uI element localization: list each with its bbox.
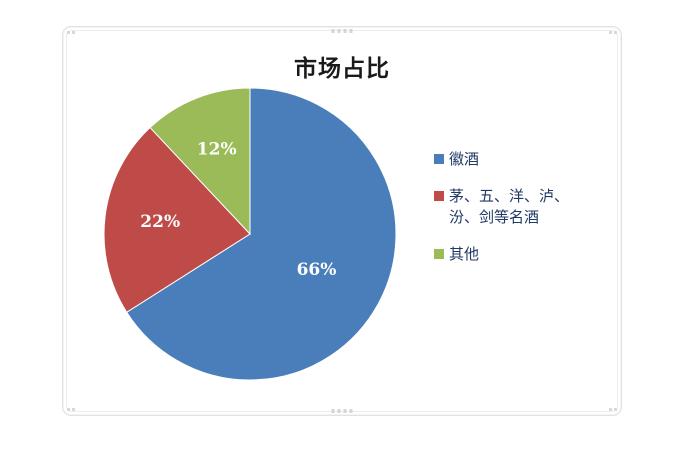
legend-item-label: 徽酒 (449, 149, 479, 170)
corner-dot (67, 408, 70, 411)
chart-title: 市场占比 (63, 49, 621, 83)
frame-tick (332, 29, 335, 33)
frame-tick (338, 409, 341, 413)
frame-tick (344, 409, 347, 413)
pie-slice-label: 12% (197, 139, 237, 159)
corner-dot (72, 408, 75, 411)
frame-tick (350, 29, 353, 33)
legend-item[interactable]: 其他 (434, 244, 609, 265)
pie-slice-group (104, 88, 396, 380)
pie-slice-label: 22% (140, 212, 180, 232)
corner-dot (614, 31, 617, 34)
frame-tick (338, 29, 341, 33)
legend-item-label: 其他 (449, 244, 479, 265)
legend-item-label: 茅、五、洋、泸、 汾、剑等名酒 (449, 186, 569, 228)
pie-slice-label: 66% (297, 260, 337, 280)
legend-color-swatch (434, 154, 444, 164)
legend-item[interactable]: 茅、五、洋、泸、 汾、剑等名酒 (434, 186, 609, 228)
legend-color-swatch (434, 249, 444, 259)
corner-dot (614, 408, 617, 411)
frame-corner-handle-top-left[interactable] (67, 31, 75, 34)
corner-dot (72, 31, 75, 34)
chart-legend[interactable]: 徽酒茅、五、洋、泸、 汾、剑等名酒其他 (434, 149, 609, 281)
frame-corner-handle-top-right[interactable] (609, 31, 617, 34)
frame-tick (350, 409, 353, 413)
frame-corner-handle-bottom-left[interactable] (67, 408, 75, 411)
frame-tick (332, 409, 335, 413)
chart-plot-area[interactable]: 市场占比 66%22%12% 徽酒茅、五、洋、泸、 汾、剑等名酒其他 (63, 27, 621, 415)
chart-frame[interactable]: 市场占比 66%22%12% 徽酒茅、五、洋、泸、 汾、剑等名酒其他 (62, 26, 622, 416)
pie-chart[interactable]: 66%22%12% (101, 85, 401, 385)
corner-dot (609, 31, 612, 34)
frame-handle-ticks-top[interactable] (332, 29, 353, 33)
frame-tick (344, 29, 347, 33)
frame-corner-handle-bottom-right[interactable] (609, 408, 617, 411)
corner-dot (609, 408, 612, 411)
legend-item[interactable]: 徽酒 (434, 149, 609, 170)
legend-color-swatch (434, 191, 444, 201)
frame-handle-ticks-bottom[interactable] (332, 409, 353, 413)
corner-dot (67, 31, 70, 34)
